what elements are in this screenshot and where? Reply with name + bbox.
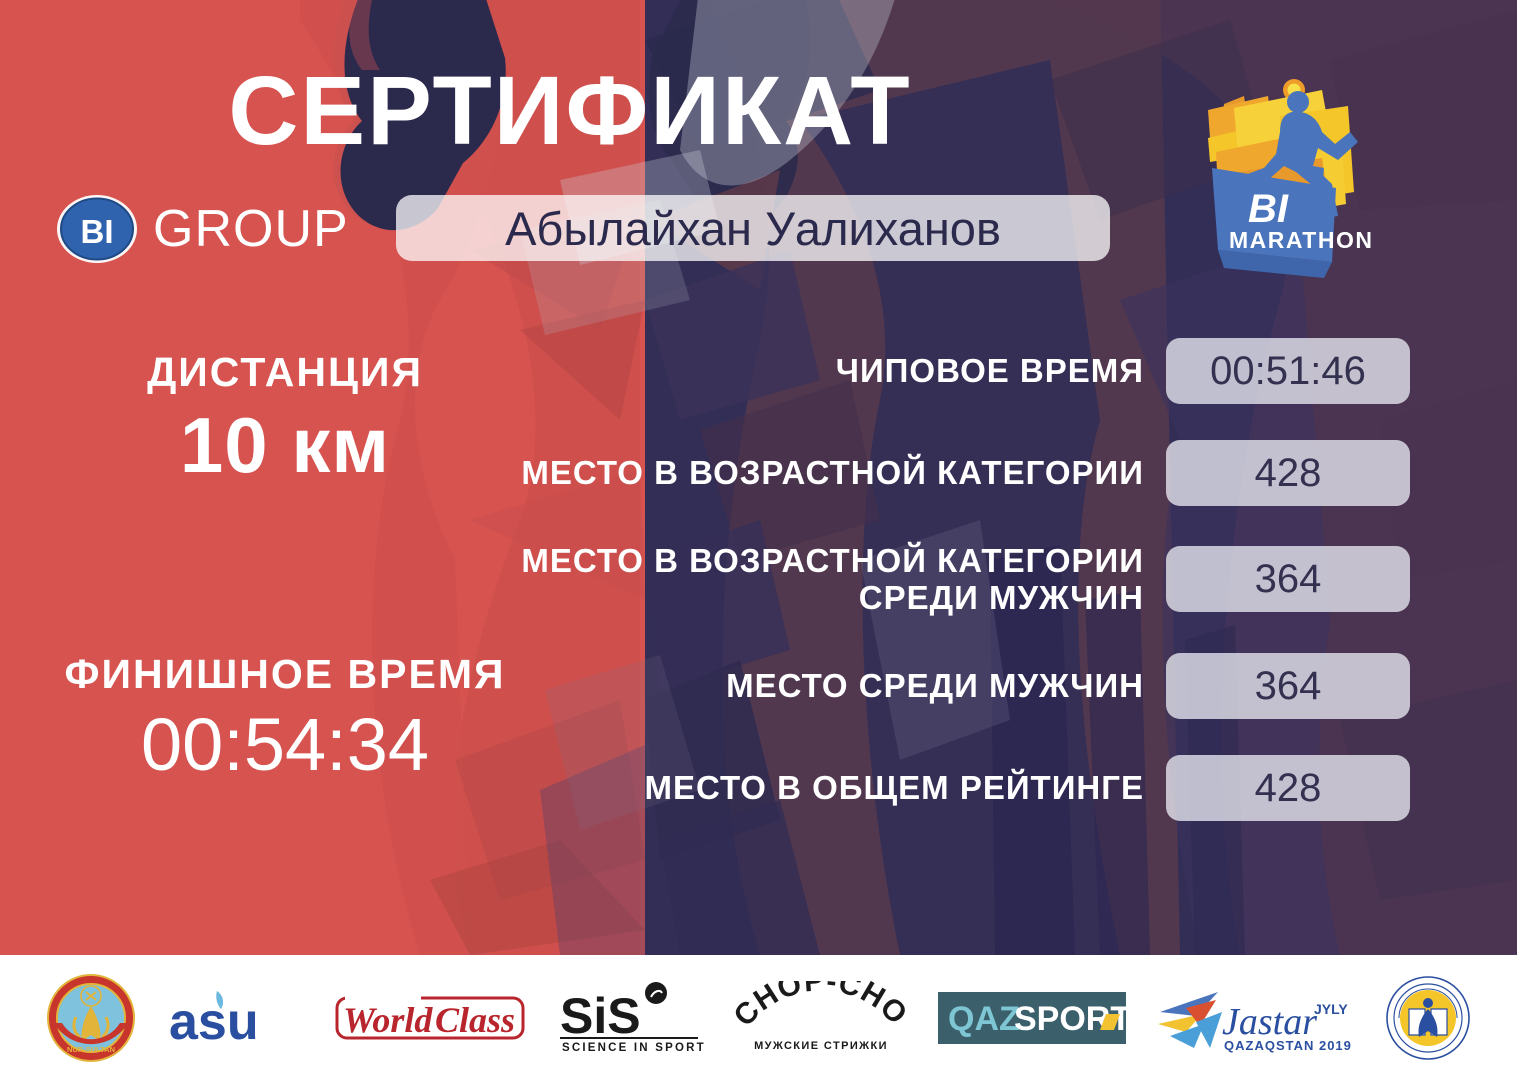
- result-row: МЕСТО СРЕДИ МУЖЧИН 364: [470, 653, 1410, 719]
- result-value: 00:51:46: [1210, 351, 1366, 391]
- bi-marathon-logo: BI MARATHON: [1172, 62, 1402, 292]
- jastar-tagline-text: QAZAQSTAN 2019: [1224, 1038, 1352, 1053]
- finish-time-label: ФИНИШНОЕ ВРЕМЯ: [50, 650, 520, 698]
- marathon-word-text: MARATHON: [1229, 227, 1373, 253]
- sponsor-ministry-seal: [1385, 968, 1471, 1068]
- page-title: СЕРТИФИКАТ: [0, 62, 1140, 159]
- world-text: World: [343, 1000, 433, 1040]
- certificate: СЕРТИФИКАТ BI GROUP Абылайхан Уалиханов: [0, 0, 1517, 1080]
- sponsor-jastar-jyly-logo: Jastar JYLY QAZAQSTAN 2019: [1156, 968, 1356, 1068]
- participant-name-field: Абылайхан Уалиханов: [396, 195, 1110, 261]
- bi-group-wordmark: GROUP: [153, 203, 349, 255]
- chop-chop-text: CHOP-CHOP: [734, 981, 909, 1033]
- result-value: 364: [1255, 666, 1322, 706]
- sis-text: SiS: [560, 988, 641, 1044]
- result-label: МЕСТО В ВОЗРАСТНОЙ КАТЕГОРИИ: [470, 454, 1166, 491]
- class-text: Class: [435, 1000, 515, 1040]
- result-label: МЕСТО В ОБЩЕМ РЕЙТИНГЕ: [470, 769, 1166, 806]
- svg-text:BI: BI: [81, 213, 114, 250]
- status-badge: 428: [1166, 755, 1410, 821]
- finish-time-value: 00:54:34: [50, 704, 520, 787]
- result-row: МЕСТО В ОБЩЕМ РЕЙТИНГЕ 428: [470, 755, 1410, 821]
- status-badge: 364: [1166, 546, 1410, 612]
- sponsor-asu-logo: asu: [165, 968, 305, 1068]
- chop-chop-tagline-text: МУЖСКИЕ СТРИЖКИ: [754, 1040, 888, 1052]
- results-list: ЧИПОВОЕ ВРЕМЯ 00:51:46 МЕСТО В ВОЗРАСТНО…: [470, 338, 1410, 857]
- result-label: МЕСТО СРЕДИ МУЖЧИН: [470, 667, 1166, 704]
- sponsor-bar: NUR-SULTAN asu World Class SiS: [0, 955, 1517, 1080]
- sis-tagline-text: SCIENCE IN SPORT: [562, 1042, 704, 1054]
- sponsor-world-class-logo: World Class: [335, 968, 525, 1068]
- jastar-text: Jastar: [1222, 1001, 1317, 1043]
- sponsor-sis-logo: SiS SCIENCE IN SPORT: [554, 968, 704, 1068]
- finish-time-block: ФИНИШНОЕ ВРЕМЯ 00:54:34: [50, 650, 520, 787]
- result-row: МЕСТО В ВОЗРАСТНОЙ КАТЕГОРИИ 428: [470, 440, 1410, 506]
- result-value: 428: [1255, 768, 1322, 808]
- result-row: ЧИПОВОЕ ВРЕМЯ 00:51:46: [470, 338, 1410, 404]
- participant-name-text: Абылайхан Уалиханов: [505, 205, 1001, 252]
- sponsor-qazsport-logo: QAZ SPORT: [938, 968, 1126, 1068]
- sponsor-nur-sultan-emblem: NUR-SULTAN: [46, 968, 136, 1068]
- marathon-bi-text: BI: [1248, 187, 1289, 231]
- status-badge: 428: [1166, 440, 1410, 506]
- result-row: МЕСТО В ВОЗРАСТНОЙ КАТЕГОРИИ СРЕДИ МУЖЧИ…: [470, 542, 1410, 617]
- qaz-text: QAZ: [948, 1000, 1020, 1038]
- distance-label: ДИСТАНЦИЯ: [50, 348, 520, 396]
- jyly-text: JYLY: [1314, 1001, 1348, 1017]
- result-value: 428: [1255, 453, 1322, 493]
- bi-badge-icon: BI: [55, 193, 139, 265]
- bi-group-logo: BI GROUP: [55, 193, 349, 265]
- asu-text: asu: [169, 993, 259, 1051]
- result-label: ЧИПОВОЕ ВРЕМЯ: [470, 352, 1166, 389]
- nur-sultan-text: NUR-SULTAN: [67, 1045, 115, 1054]
- result-value: 364: [1255, 559, 1322, 599]
- distance-block: ДИСТАНЦИЯ 10 км: [50, 348, 520, 490]
- distance-value: 10 км: [50, 402, 520, 489]
- status-badge: 364: [1166, 653, 1410, 719]
- sponsor-chop-chop-logo: CHOP-CHOP МУЖСКИЕ СТРИЖКИ: [734, 968, 909, 1068]
- status-badge: 00:51:46: [1166, 338, 1410, 404]
- result-label: МЕСТО В ВОЗРАСТНОЙ КАТЕГОРИИ СРЕДИ МУЖЧИ…: [470, 542, 1166, 617]
